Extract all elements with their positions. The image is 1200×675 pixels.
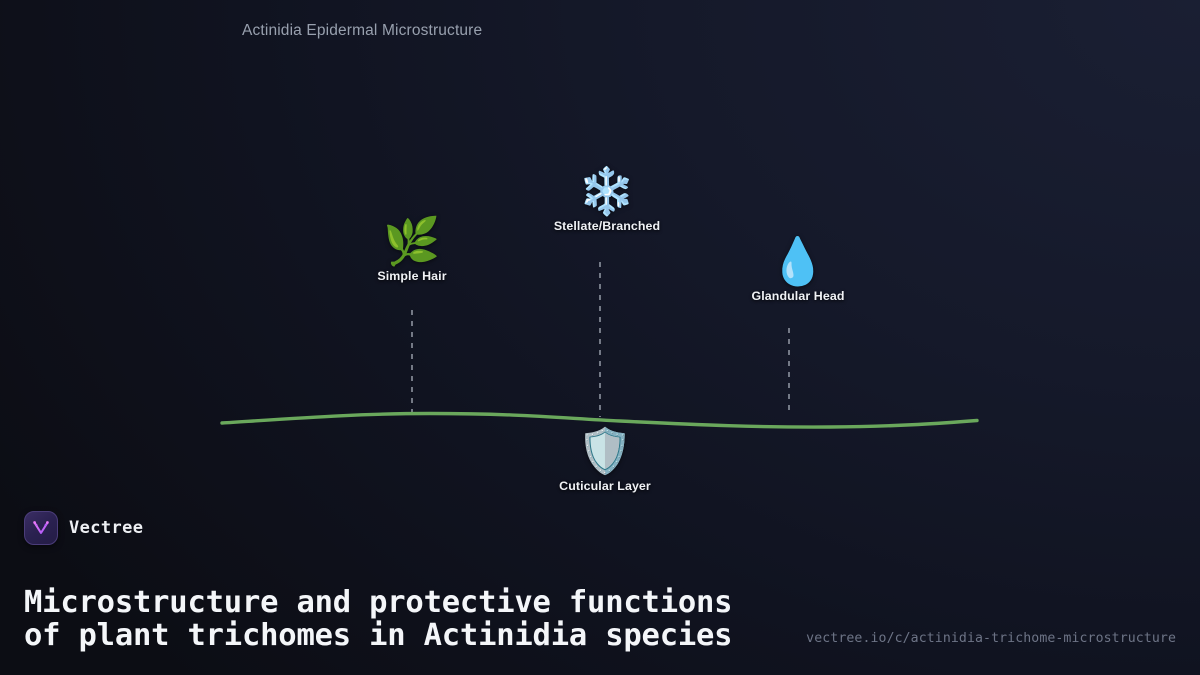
vectree-tree-logo-icon bbox=[24, 511, 58, 545]
herb-leaf-icon: 🌿 bbox=[377, 218, 446, 264]
marker-glandular-head[interactable]: 💧 Glandular Head bbox=[752, 238, 845, 303]
diagram-layer bbox=[0, 0, 1200, 675]
shield-icon: 🛡️ bbox=[559, 430, 651, 474]
marker-label-glandular-head: Glandular Head bbox=[752, 289, 845, 303]
page-title: Actinidia Epidermal Microstructure bbox=[242, 22, 482, 40]
brand-name: Vectree bbox=[69, 518, 143, 538]
headline: Microstructure and protective functions … bbox=[24, 587, 764, 652]
snowflake-icon: ❄️ bbox=[554, 168, 660, 214]
marker-cuticular-layer[interactable]: 🛡️ Cuticular Layer bbox=[559, 430, 651, 493]
brand-row[interactable]: Vectree bbox=[24, 511, 143, 545]
marker-simple-hair[interactable]: 🌿 Simple Hair bbox=[377, 218, 446, 283]
marker-label-cuticular-layer: Cuticular Layer bbox=[559, 479, 651, 493]
epidermis-surface-curve bbox=[222, 414, 977, 428]
slide-canvas: Actinidia Epidermal Microstructure 🌿 Sim… bbox=[0, 0, 1200, 675]
droplet-icon: 💧 bbox=[752, 238, 845, 284]
footer-url: vectree.io/c/actinidia-trichome-microstr… bbox=[806, 631, 1176, 646]
epidermis-diagram-svg bbox=[0, 0, 1200, 675]
marker-label-stellate-branched: Stellate/Branched bbox=[554, 219, 660, 233]
marker-stellate-branched[interactable]: ❄️ Stellate/Branched bbox=[554, 168, 660, 233]
marker-label-simple-hair: Simple Hair bbox=[377, 269, 446, 283]
connector-lines-group bbox=[412, 262, 789, 417]
